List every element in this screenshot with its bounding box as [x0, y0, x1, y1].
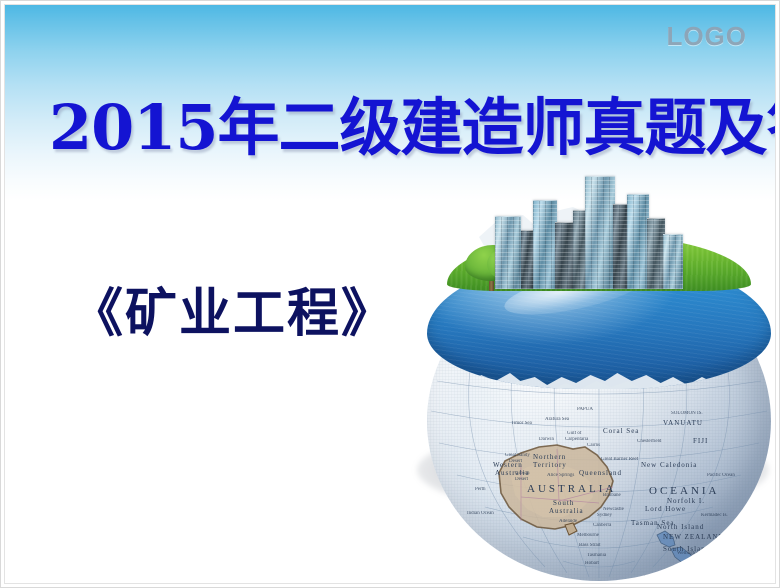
australia-landmass [481, 437, 631, 541]
presentation-slide: LOGO 2015年二级建造师真题及答案 《矿业工程》 [0, 0, 780, 588]
building-8 [627, 194, 649, 289]
coastline-edge [427, 369, 771, 389]
new-zealand-landmass [647, 529, 703, 569]
city-skyline [491, 173, 701, 289]
building-2 [521, 230, 533, 289]
building-1 [495, 216, 521, 289]
logo-text: LOGO [666, 21, 747, 52]
building-4 [555, 222, 575, 289]
slide-inner-frame: LOGO 2015年二级建造师真题及答案 《矿业工程》 [4, 4, 776, 584]
globe-illustration: AUSTRALIAOCEANIANorthernTerritoryQueensl… [409, 173, 776, 523]
page-title: 2015年二级建造师真题及答案 [49, 89, 749, 167]
building-3 [533, 200, 557, 289]
building-10 [663, 234, 683, 289]
building-6 [585, 176, 615, 289]
page-subtitle: 《矿业工程》 [71, 283, 395, 345]
